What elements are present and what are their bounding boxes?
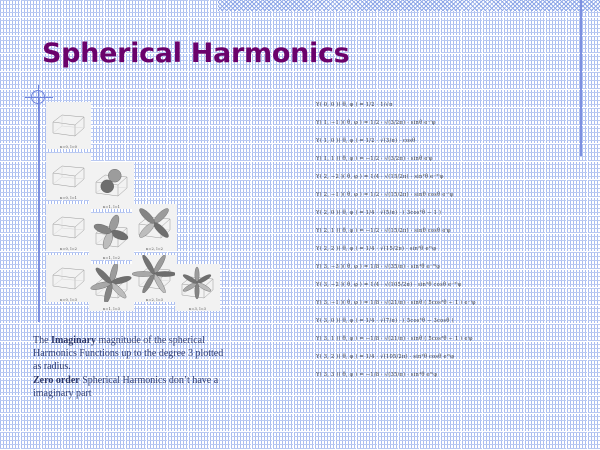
harmonic-plot-six-lobe	[89, 264, 134, 302]
left-rule-crosshair-icon	[31, 90, 45, 104]
formula-row: Y( 2, 1 )( θ, φ ) = −1/2 · √(15/2π) · si…	[316, 222, 552, 240]
harmonic-plot-cross-lobe	[132, 204, 177, 242]
harmonic-plot-empty-box	[46, 255, 91, 293]
harmonic-plot-four-lobe	[89, 213, 134, 251]
harmonic-plot-cell: n=1, l=3	[89, 264, 134, 311]
figure-row: n=0, l=1n=1, l=1	[46, 153, 236, 201]
harmonic-plot-empty-box	[46, 102, 91, 140]
formula-row: Y( 2, −2 )( θ, φ ) = 1/4 · √(15/2π) · si…	[316, 168, 552, 186]
page-title: Spherical Harmonics	[42, 38, 349, 69]
harmonic-plot-flat-star	[175, 264, 220, 302]
spherical-harmonics-figure: n=0, l=0n=0, l=1n=1, l=1n=0, l=2n=1, l=2…	[46, 102, 236, 307]
formula-row: Y( 2, −1 )( θ, φ ) = 1/2 · √(15/2π) · si…	[316, 186, 552, 204]
formula-row: Y( 3, 3 )( θ, φ ) = −1/8 · √(35/π) · sin…	[316, 366, 552, 384]
figure-row: n=0, l=0	[46, 102, 236, 150]
caption-line1-bold: Imaginary	[51, 335, 96, 346]
formula-row: Y( 1, −1 )( θ, φ ) = 1/2 · √(3/2π) · sin…	[316, 114, 552, 132]
formula-row: Y( 3, −3 )( θ, φ ) = 1/8 · √(35/π) · sin…	[316, 258, 552, 276]
formula-row: Y( 3, 2 )( θ, φ ) = 1/4 · √(105/2π) · si…	[316, 348, 552, 366]
harmonic-plot-cell: n=1, l=2	[89, 213, 134, 260]
harmonic-plot-label: n=0, l=1	[46, 196, 91, 200]
right-accent-rule	[580, 0, 582, 156]
harmonic-plot-cell: n=3, l=3	[175, 264, 220, 311]
harmonic-plot-two-lobe	[89, 162, 134, 200]
harmonic-plot-cell: n=0, l=1	[46, 153, 91, 200]
harmonic-plot-label: n=0, l=3	[46, 298, 91, 302]
harmonic-plot-label: n=1, l=3	[89, 307, 134, 311]
figure-caption: The Imaginary magnitude of the spherical…	[33, 334, 233, 400]
formula-row: Y( 1, 0 )( θ, φ ) = 1/2 · √(3/π) · cosθ	[316, 132, 552, 150]
harmonic-plot-label: n=0, l=2	[46, 247, 91, 251]
harmonic-plot-cell: n=0, l=0	[46, 102, 91, 149]
top-hatched-band	[218, 0, 600, 11]
harmonic-plot-label: n=2, l=3	[132, 298, 177, 302]
formula-list: Y( 0, 0 )( θ, φ ) = 1/2 · 1/√πY( 1, −1 )…	[316, 96, 552, 384]
formula-row: Y( 2, 0 )( θ, φ ) = 1/4 · √(5/π) · ( 3co…	[316, 204, 552, 222]
formula-row: Y( 3, −1 )( θ, φ ) = 1/8 · √(21/π) · sin…	[316, 294, 552, 312]
left-accent-rule	[38, 97, 40, 322]
caption-line2-bold: Zero order	[33, 375, 80, 386]
figure-row: n=0, l=2n=1, l=2n=2, l=2	[46, 204, 236, 252]
harmonic-plot-label: n=3, l=3	[175, 307, 220, 311]
harmonic-plot-cell: n=1, l=1	[89, 162, 134, 209]
formula-row: Y( 3, −2 )( θ, φ ) = 1/4 · √(105/2π) · s…	[316, 276, 552, 294]
harmonic-plot-cell: n=0, l=3	[46, 255, 91, 302]
harmonic-plot-empty-box	[46, 204, 91, 242]
formula-row: Y( 3, 1 )( θ, φ ) = −1/8 · √(21/π) · sin…	[316, 330, 552, 348]
formula-row: Y( 2, 2 )( θ, φ ) = 1/4 · √(15/2π) · sin…	[316, 240, 552, 258]
harmonic-plot-label: n=0, l=0	[46, 145, 91, 149]
formula-row: Y( 3, 0 )( θ, φ ) = 1/4 · √(7/π) · ( 5co…	[316, 312, 552, 330]
harmonic-plot-empty-box	[46, 153, 91, 191]
caption-line1-prefix: The	[33, 335, 51, 346]
formula-row: Y( 1, 1 )( θ, φ ) = −1/2 · √(3/2π) · sin…	[316, 150, 552, 168]
harmonic-plot-cell: n=2, l=2	[132, 204, 177, 251]
harmonic-plot-cell: n=2, l=3	[132, 255, 177, 302]
figure-row: n=0, l=3n=1, l=3n=2, l=3n=3, l=3	[46, 255, 236, 303]
harmonic-plot-label: n=2, l=2	[132, 247, 177, 251]
slide-canvas: Spherical Harmonics n=0, l=0n=0, l=1n=1,…	[0, 0, 600, 450]
harmonic-plot-star-lobe	[132, 255, 177, 293]
harmonic-plot-cell: n=0, l=2	[46, 204, 91, 251]
formula-row: Y( 0, 0 )( θ, φ ) = 1/2 · 1/√π	[316, 96, 552, 114]
